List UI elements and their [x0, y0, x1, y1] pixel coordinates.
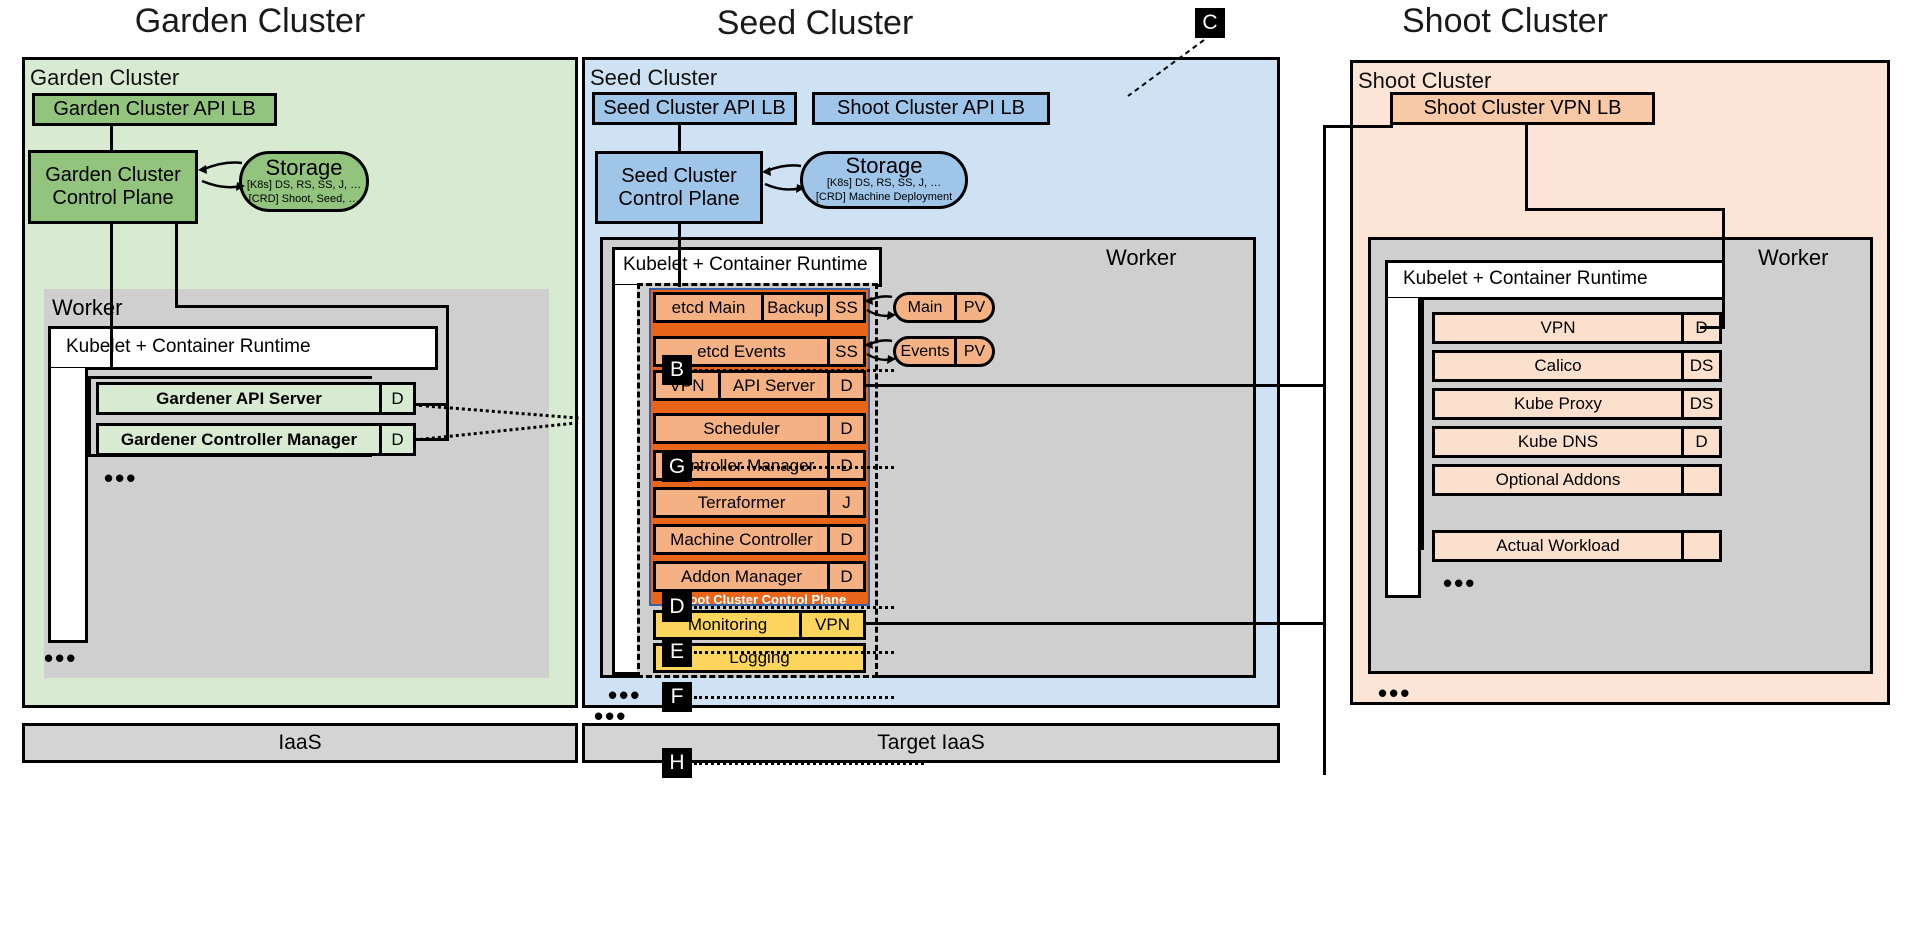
seed-pod-label: Addon Manager	[656, 564, 827, 589]
garden-cp-to-kubelet-line	[110, 224, 113, 370]
seed-storage-title: Storage	[845, 155, 922, 177]
tag-g: G	[662, 452, 692, 482]
seed-apiserver-connector-h	[864, 384, 1324, 387]
tag-b: B	[662, 355, 692, 385]
seed-pod-kind: D	[827, 564, 863, 589]
garden-pod-gardener-api-server[interactable]: Gardener API Server D	[96, 382, 416, 415]
tag-b-leader	[694, 369, 894, 372]
seed-cp-to-worker-line	[678, 224, 681, 287]
tag-c-leader	[1126, 38, 1206, 98]
seed-volume-main: Main PV	[893, 292, 995, 323]
tag-e: E	[662, 637, 692, 667]
shoot-pod-label: Kube Proxy	[1435, 391, 1681, 417]
seed-pod-label: Scheduler	[656, 416, 827, 441]
diagram-canvas: Garden Cluster Seed Cluster Shoot Cluste…	[0, 0, 1913, 941]
shoot-pod-actual-workload[interactable]: Actual Workload	[1432, 530, 1722, 562]
tag-e-leader	[694, 651, 894, 654]
shoot-pod-kind: D	[1681, 429, 1719, 455]
seed-monitoring-connector-h	[864, 622, 1324, 625]
seed-obs-kind: VPN	[799, 613, 863, 637]
shoot-workload-kind	[1681, 533, 1719, 559]
title-shoot-cluster: Shoot Cluster	[1315, 2, 1695, 41]
shoot-pod-kind: DS	[1681, 391, 1719, 417]
seed-cluster-api-lb[interactable]: Seed Cluster API LB	[592, 92, 797, 125]
garden-cp-branch-h	[175, 305, 449, 308]
seed-pod-scheduler[interactable]: Scheduler D	[653, 413, 866, 444]
shoot-vpn-lb-v1	[1525, 125, 1528, 210]
seed-pod-addon-manager[interactable]: Addon Manager D	[653, 561, 866, 592]
shoot-pod-vpn[interactable]: VPN D	[1432, 312, 1722, 344]
garden-kubelet-runtime-label: Kubelet + Container Runtime	[66, 336, 311, 358]
seed-pod-mid: Backup	[761, 295, 827, 320]
seed-pod-kind: D	[827, 527, 863, 552]
seed-pod-kind: D	[827, 416, 863, 441]
shoot-pod-kube-dns[interactable]: Kube DNS D	[1432, 426, 1722, 458]
seed-cp-storage-arrows	[761, 158, 806, 210]
shoot-pod-kind	[1681, 467, 1719, 493]
garden-iaas-bar: IaaS	[22, 723, 578, 763]
seed-pod-terraformer[interactable]: Terraformer J	[653, 487, 866, 518]
shoot-kubelet-runtime-column	[1385, 298, 1421, 598]
garden-cluster-api-lb[interactable]: Garden Cluster API LB	[32, 93, 277, 126]
seed-cp-line2: Control Plane	[618, 188, 739, 211]
garden-cluster-control-plane[interactable]: Garden Cluster Control Plane	[28, 150, 198, 224]
garden-lb-to-cp-line	[110, 126, 113, 151]
shoot-workload-label: Actual Workload	[1435, 533, 1681, 559]
title-seed-cluster: Seed Cluster	[625, 4, 1005, 43]
seed-pod-label: Terraformer	[656, 490, 827, 515]
seed-volume-kind: PV	[954, 339, 992, 364]
shoot-cluster-label: Shoot Cluster	[1358, 68, 1491, 94]
shoot-vpn-lb-h1	[1525, 208, 1725, 211]
shoot-pod-kube-proxy[interactable]: Kube Proxy DS	[1432, 388, 1722, 420]
garden-cp-branch-v2	[446, 305, 449, 405]
tag-g-leader	[694, 466, 894, 469]
tag-f: F	[662, 682, 692, 712]
seed-kubelet-runtime-label: Kubelet + Container Runtime	[623, 254, 868, 276]
shoot-vpn-pod-h	[1700, 326, 1725, 329]
seed-etcd-main-pv-arrows	[864, 292, 896, 326]
shoot-pod-label: VPN	[1435, 315, 1681, 341]
garden-cp-line1: Garden Cluster	[45, 164, 181, 187]
shoot-worker-label: Worker	[1758, 245, 1829, 271]
garden-pod-label: Gardener API Server	[99, 385, 379, 412]
shoot-pod-kind: DS	[1681, 353, 1719, 379]
shoot-kubelet-runtime-label: Kubelet + Container Runtime	[1403, 268, 1648, 290]
seed-pod-label: API Server	[721, 373, 827, 398]
garden-cluster-label: Garden Cluster	[30, 65, 179, 91]
title-garden-cluster: Garden Cluster	[60, 2, 440, 41]
seed-volume-kind: PV	[954, 295, 992, 320]
shoot-pod-label: Calico	[1435, 353, 1681, 379]
shoot-pod-label: Optional Addons	[1435, 467, 1681, 493]
seed-cluster-control-plane[interactable]: Seed Cluster Control Plane	[595, 151, 763, 224]
shoot-cluster-vpn-lb[interactable]: Shoot Cluster VPN LB	[1390, 92, 1655, 125]
seed-pod-kind: SS	[827, 295, 863, 320]
seed-volume-events: Events PV	[893, 336, 995, 367]
garden-cp-branch-v	[175, 224, 178, 305]
seed-shoot-api-lb-h	[1323, 125, 1393, 128]
seed-pod-kind: D	[827, 373, 863, 398]
seed-pod-machine-controller[interactable]: Machine Controller D	[653, 524, 866, 555]
shoot-pod-optional-addons[interactable]: Optional Addons	[1432, 464, 1722, 496]
seed-storage-line2: [CRD] Machine Deployment	[816, 191, 952, 205]
garden-kubelet-runtime-column	[48, 368, 88, 643]
shoot-pod-calico[interactable]: Calico DS	[1432, 350, 1722, 382]
seed-storage-line1: [K8s] DS, RS, SS, J, …	[827, 177, 941, 191]
seed-pod-kind: J	[827, 490, 863, 515]
garden-pods-ellipsis: •••	[104, 465, 137, 491]
seed-worker-label: Worker	[1106, 245, 1177, 271]
seed-etcd-events-pv-arrows	[864, 336, 896, 370]
seed-pod-label: Machine Controller	[656, 527, 827, 552]
tag-d-leader	[694, 606, 894, 609]
seed-volume-label: Main	[896, 295, 954, 320]
tag-c: C	[1195, 8, 1225, 38]
garden-pod-gardener-controller-manager[interactable]: Gardener Controller Manager D	[96, 423, 416, 456]
seed-cluster-label: Seed Cluster	[590, 65, 717, 91]
seed-cp-line1: Seed Cluster	[621, 165, 737, 188]
garden-pod-kind: D	[379, 426, 413, 453]
garden-cp-line2: Control Plane	[52, 187, 173, 210]
garden-cp-storage-arrows	[196, 155, 248, 210]
tag-h-leader	[694, 762, 924, 765]
garden-pod-kind: D	[379, 385, 413, 412]
shoot-cluster-api-lb[interactable]: Shoot Cluster API LB	[812, 92, 1050, 125]
tag-h: H	[662, 748, 692, 778]
shoot-vpn-lb-v2	[1722, 208, 1725, 328]
seed-pod-label: etcd Main	[656, 295, 761, 320]
tag-f-leader	[694, 696, 894, 699]
seed-lb-to-cp-line	[678, 125, 681, 151]
garden-pod-label: Gardener Controller Manager	[99, 426, 379, 453]
garden-storage-line1: [K8s] DS, RS, SS, J, …	[247, 179, 361, 193]
seed-pod-etcd-main[interactable]: etcd Main Backup SS	[653, 292, 866, 323]
shoot-pods-ellipsis: •••	[1443, 570, 1476, 596]
tag-d: D	[662, 592, 692, 622]
seed-volume-label: Events	[896, 339, 954, 364]
garden-storage: Storage [K8s] DS, RS, SS, J, … [CRD] Sho…	[239, 151, 369, 212]
shoot-pod-label: Kube DNS	[1435, 429, 1681, 455]
seed-pod-kind: SS	[827, 339, 863, 364]
garden-storage-title: Storage	[265, 157, 342, 179]
seed-storage: Storage [K8s] DS, RS, SS, J, … [CRD] Mac…	[800, 151, 968, 209]
seed-shoot-api-connector-v	[1323, 125, 1326, 775]
garden-worker-ellipsis: •••	[44, 645, 77, 671]
garden-storage-line2: [CRD] Shoot, Seed, …	[249, 193, 360, 207]
shoot-worker-ellipsis: •••	[1378, 680, 1411, 706]
